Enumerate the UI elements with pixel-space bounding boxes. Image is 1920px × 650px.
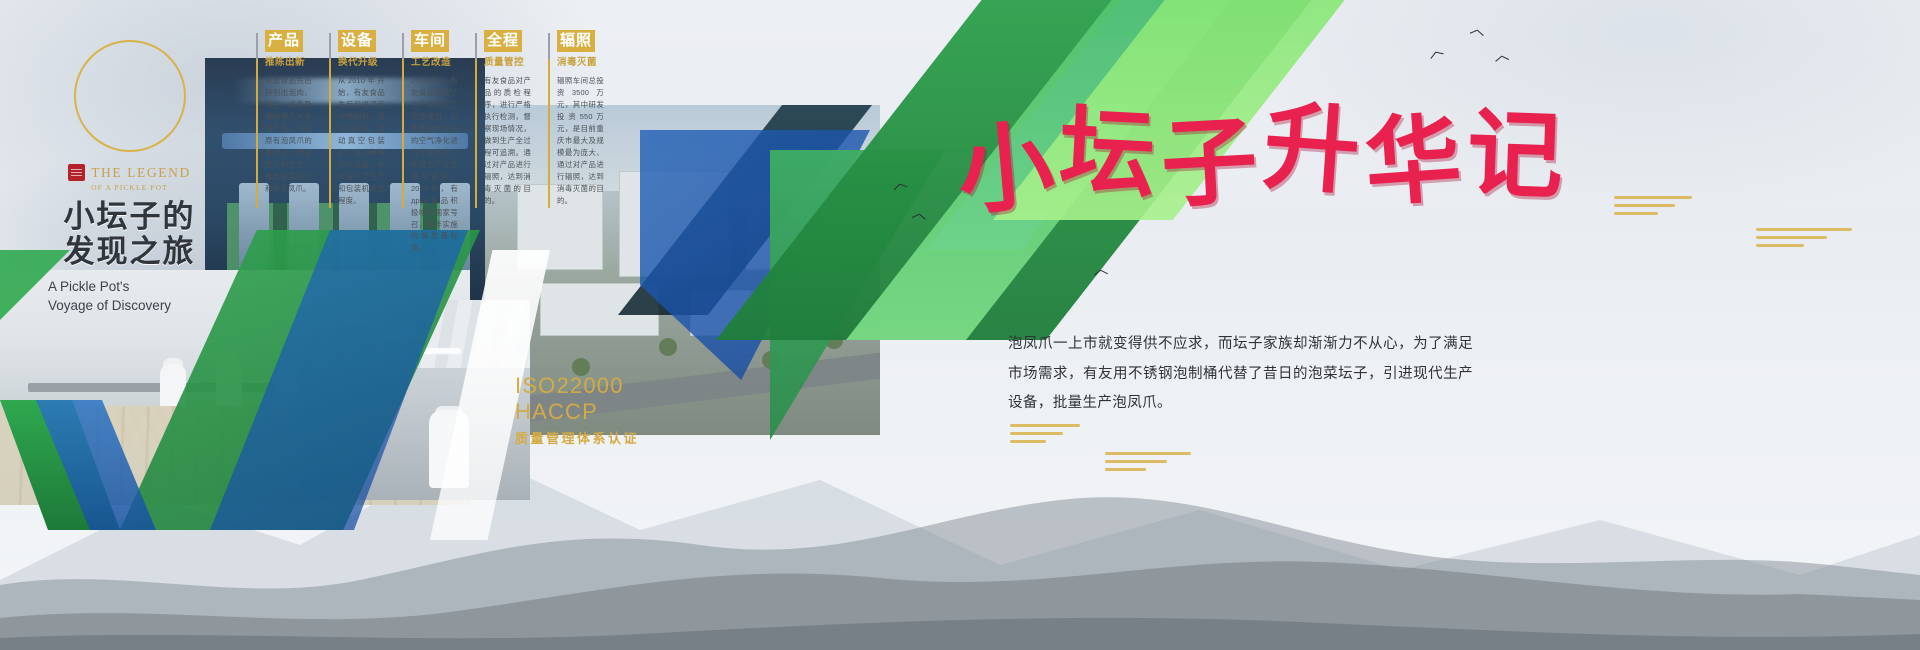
brand-title-cn-line2: 发现之旅	[22, 235, 237, 270]
brand-title-cn: 小坛子的 发现之旅	[22, 200, 237, 269]
info-subheading: 工艺改造	[411, 54, 458, 68]
info-body: 有友食品对产品的质检程序，进行严格执行检测，督察现场情况，做到生产全过程可追溯。…	[484, 75, 531, 207]
certification-block: ISO22000 HACCP 质量管理体系认证	[515, 373, 639, 447]
red-stamp-icon	[68, 164, 85, 181]
info-body: 2011年，有友食品启动了生产车间工艺改造项目，对蒸煮油炸车间的空气净化进行全面…	[411, 75, 458, 255]
ink-mountain-foreground	[0, 350, 1920, 650]
bird-icon: ︿	[1493, 47, 1510, 64]
gold-circle-seal-icon	[74, 40, 186, 152]
info-heading: 产品	[265, 30, 303, 52]
gold-cloud-swirl-icon	[1105, 452, 1191, 476]
info-columns: 产品 推陈出新 有友食品先后研制出泡肉、泡豆、卤香及海鲜等几大系列产品，并在原有…	[256, 30, 604, 254]
hero-title-char: 坛	[1057, 104, 1158, 205]
banner-stage: ︿ ︿ ︿ ︿ ︿ ︿ THE LEGEND OF A PICKLE POT	[0, 0, 1920, 650]
info-column-quality: 全程 质量管控 有友食品对产品的质检程序，进行严格执行检测，督察现场情况，做到生…	[475, 30, 531, 254]
info-heading: 车间	[411, 30, 449, 52]
gold-cloud-swirl-icon	[1010, 424, 1080, 448]
brand-block: THE LEGEND OF A PICKLE POT 小坛子的 发现之旅 A P…	[22, 40, 237, 315]
brand-title-en: A Pickle Pot's Voyage of Discovery	[22, 278, 237, 314]
gold-cloud-swirl-icon	[1614, 196, 1692, 220]
info-subheading: 推陈出新	[265, 54, 312, 68]
info-subheading: 消毒灭菌	[557, 54, 604, 68]
info-subheading: 质量管控	[484, 54, 531, 68]
info-heading: 辐照	[557, 30, 595, 52]
hero-title-char: 子	[1159, 114, 1260, 215]
bird-icon: ︿	[911, 205, 928, 222]
brand-title-en-line2: Voyage of Discovery	[48, 297, 237, 315]
bird-icon: ︿	[1469, 21, 1486, 38]
legend-lockup: THE LEGEND	[22, 164, 237, 181]
gold-cloud-swirl-icon	[1756, 228, 1852, 252]
hero-title-char: 记	[1465, 106, 1564, 205]
legend-en-sub: OF A PICKLE POT	[22, 183, 237, 192]
info-column-equipment: 设备 换代升级 从2010年开始，有友食品先后引进了连续煮制机、自动切割机、自动…	[329, 30, 385, 254]
info-column-workshop: 车间 工艺改造 2011年，有友食品启动了生产车间工艺改造项目，对蒸煮油炸车间的…	[402, 30, 458, 254]
info-body: 有友食品先后研制出泡肉、泡豆、卤香及海鲜等几大系列产品，并在原有泡凤爪的基础上，…	[265, 75, 312, 195]
hero-title: 小 坛 子 升 华 记	[960, 95, 1560, 225]
info-column-irradiation: 辐照 消毒灭菌 辐照车间总投资3500万元，其中研发投资550万元，是目前重庆市…	[548, 30, 604, 254]
bird-icon: ︿	[890, 174, 908, 192]
info-body: 辐照车间总投资3500万元，其中研发投资550万元，是目前重庆市最大及规模最为庞…	[557, 75, 604, 207]
info-heading: 全程	[484, 30, 522, 52]
info-column-product: 产品 推陈出新 有友食品先后研制出泡肉、泡豆、卤香及海鲜等几大系列产品，并在原有…	[256, 30, 312, 254]
hero-title-char: 升	[1260, 99, 1362, 201]
hero-title-char: 华	[1362, 111, 1464, 213]
bird-icon: ︿	[1092, 261, 1109, 277]
info-subheading: 换代升级	[338, 54, 385, 68]
certification-haccp: HACCP	[515, 399, 639, 425]
hero-title-char: 小	[954, 118, 1058, 222]
brand-title-en-line1: A Pickle Pot's	[48, 278, 237, 296]
legend-en: THE LEGEND	[91, 165, 191, 181]
hero-paragraph: 泡凤爪一上市就变得供不应求，而坛子家族却渐渐力不从心，为了满足市场需求，有友用不…	[1008, 330, 1473, 419]
info-body: 从2010年开始，有友食品先后引进了连续煮制机、自动切割机、自动真空包装机、多头…	[338, 75, 385, 207]
certification-iso: ISO22000	[515, 373, 639, 399]
certification-caption: 质量管理体系认证	[515, 428, 639, 447]
info-heading: 设备	[338, 30, 376, 52]
brand-title-cn-line1: 小坛子的	[22, 200, 237, 235]
